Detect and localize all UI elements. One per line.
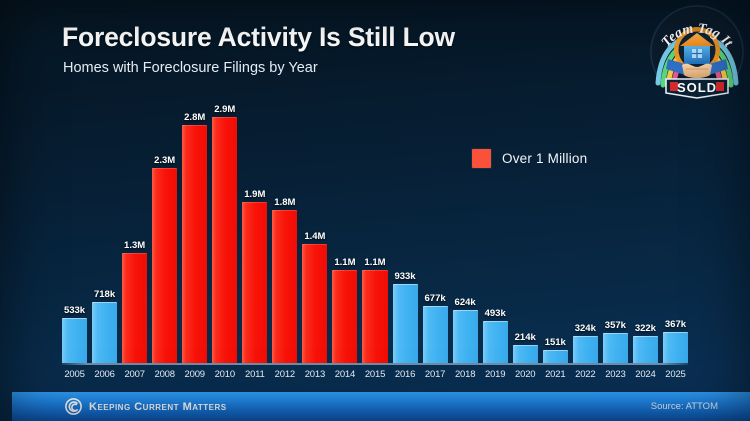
x-tick-2006: 2006 bbox=[92, 369, 117, 380]
bar-2022: 324k bbox=[573, 336, 598, 363]
bar-2015: 1.1M bbox=[362, 270, 387, 363]
x-tick-2011: 2011 bbox=[242, 369, 267, 380]
bar-value-label: 1.3M bbox=[124, 240, 145, 251]
bar-2006: 718k bbox=[92, 302, 117, 363]
bar-value-label: 2.8M bbox=[184, 112, 205, 123]
bar-value-label: 322k bbox=[635, 323, 656, 334]
bar-value-label: 624k bbox=[455, 297, 476, 308]
bar-2019: 493k bbox=[483, 321, 508, 363]
bar-2013: 1.4M bbox=[302, 244, 327, 363]
bar-column: 151k bbox=[543, 96, 568, 363]
bar-value-label: 493k bbox=[485, 308, 506, 319]
x-tick-2016: 2016 bbox=[393, 369, 418, 380]
bar-column: 1.1M bbox=[332, 96, 357, 363]
bar-column: 933k bbox=[393, 96, 418, 363]
bar-column: 324k bbox=[573, 96, 598, 363]
kcm-spiral-logo-icon bbox=[65, 398, 82, 415]
bar-column: 322k bbox=[633, 96, 658, 363]
x-tick-2019: 2019 bbox=[483, 369, 508, 380]
bar-column: 1.9M bbox=[242, 96, 267, 363]
footer-bar: Keeping Current Matters Source: ATTOM bbox=[12, 392, 750, 421]
bar-2009: 2.8M bbox=[182, 125, 207, 363]
bar-value-label: 718k bbox=[94, 289, 115, 300]
x-tick-2022: 2022 bbox=[573, 369, 598, 380]
bar-2025: 367k bbox=[663, 332, 688, 363]
x-tick-2013: 2013 bbox=[302, 369, 327, 380]
x-tick-2020: 2020 bbox=[513, 369, 538, 380]
bar-value-label: 151k bbox=[545, 337, 566, 348]
bar-2012: 1.8M bbox=[272, 210, 297, 363]
bar-value-label: 324k bbox=[575, 323, 596, 334]
brand: Keeping Current Matters bbox=[65, 398, 227, 415]
bar-2020: 214k bbox=[513, 345, 538, 363]
bar-column: 493k bbox=[483, 96, 508, 363]
bar-value-label: 1.8M bbox=[274, 197, 295, 208]
x-tick-2014: 2014 bbox=[332, 369, 357, 380]
bar-column: 1.1M bbox=[362, 96, 387, 363]
x-tick-2012: 2012 bbox=[272, 369, 297, 380]
bar-value-label: 677k bbox=[425, 293, 446, 304]
bar-2017: 677k bbox=[423, 306, 448, 363]
team-tag-it-sold-badge-icon: SOLD Team Tag It bbox=[648, 3, 746, 101]
x-tick-2015: 2015 bbox=[362, 369, 387, 380]
bar-value-label: 1.1M bbox=[334, 257, 355, 268]
bar-chart-plot-area: 533k718k1.3M2.3M2.8M2.9M1.9M1.8M1.4M1.1M… bbox=[62, 96, 688, 363]
bar-2010: 2.9M bbox=[212, 117, 237, 363]
svg-text:SOLD: SOLD bbox=[677, 80, 717, 95]
bar-2024: 322k bbox=[633, 336, 658, 363]
bar-column: 214k bbox=[513, 96, 538, 363]
bar-2005: 533k bbox=[62, 318, 87, 363]
bar-column: 367k bbox=[663, 96, 688, 363]
bar-2011: 1.9M bbox=[242, 202, 267, 363]
x-tick-2010: 2010 bbox=[212, 369, 237, 380]
bar-value-label: 533k bbox=[64, 305, 85, 316]
bar-column: 1.3M bbox=[122, 96, 147, 363]
source-label: Source: ATTOM bbox=[651, 401, 718, 412]
bar-column: 1.4M bbox=[302, 96, 327, 363]
x-tick-2009: 2009 bbox=[182, 369, 207, 380]
page-subtitle: Homes with Foreclosure Filings by Year bbox=[63, 60, 318, 76]
bar-column: 533k bbox=[62, 96, 87, 363]
bar-value-label: 214k bbox=[515, 332, 536, 343]
bar-column: 677k bbox=[423, 96, 448, 363]
bar-column: 1.8M bbox=[272, 96, 297, 363]
x-axis-line bbox=[62, 363, 688, 365]
bar-column: 2.9M bbox=[212, 96, 237, 363]
bar-2014: 1.1M bbox=[332, 270, 357, 363]
bar-column: 2.8M bbox=[182, 96, 207, 363]
bar-value-label: 1.1M bbox=[364, 257, 385, 268]
x-tick-2023: 2023 bbox=[603, 369, 628, 380]
x-axis-tick-labels: 2005200620072008200920102011201220132014… bbox=[62, 369, 688, 380]
x-tick-2021: 2021 bbox=[543, 369, 568, 380]
x-tick-2007: 2007 bbox=[122, 369, 147, 380]
bar-value-label: 357k bbox=[605, 320, 626, 331]
bar-value-label: 367k bbox=[665, 319, 686, 330]
x-tick-2017: 2017 bbox=[423, 369, 448, 380]
bar-2021: 151k bbox=[543, 350, 568, 363]
bar-value-label: 933k bbox=[394, 271, 415, 282]
x-tick-2018: 2018 bbox=[453, 369, 478, 380]
x-tick-2024: 2024 bbox=[633, 369, 658, 380]
x-tick-2025: 2025 bbox=[663, 369, 688, 380]
bar-value-label: 1.4M bbox=[304, 231, 325, 242]
bar-value-label: 1.9M bbox=[244, 189, 265, 200]
bar-column: 2.3M bbox=[152, 96, 177, 363]
bar-2018: 624k bbox=[453, 310, 478, 363]
bar-2016: 933k bbox=[393, 284, 418, 363]
brand-name: Keeping Current Matters bbox=[89, 401, 227, 413]
bar-column: 718k bbox=[92, 96, 117, 363]
bar-2008: 2.3M bbox=[152, 168, 177, 363]
bar-2023: 357k bbox=[603, 333, 628, 363]
bar-column: 357k bbox=[603, 96, 628, 363]
page-title: Foreclosure Activity Is Still Low bbox=[62, 22, 455, 53]
bar-2007: 1.3M bbox=[122, 253, 147, 363]
bar-value-label: 2.3M bbox=[154, 155, 175, 166]
x-tick-2008: 2008 bbox=[152, 369, 177, 380]
bar-column: 624k bbox=[453, 96, 478, 363]
bar-chart: 533k718k1.3M2.3M2.8M2.9M1.9M1.8M1.4M1.1M… bbox=[62, 96, 688, 368]
x-tick-2005: 2005 bbox=[62, 369, 87, 380]
bar-value-label: 2.9M bbox=[214, 104, 235, 115]
slide-foreclosure-activity: Foreclosure Activity Is Still Low Homes … bbox=[0, 0, 750, 421]
